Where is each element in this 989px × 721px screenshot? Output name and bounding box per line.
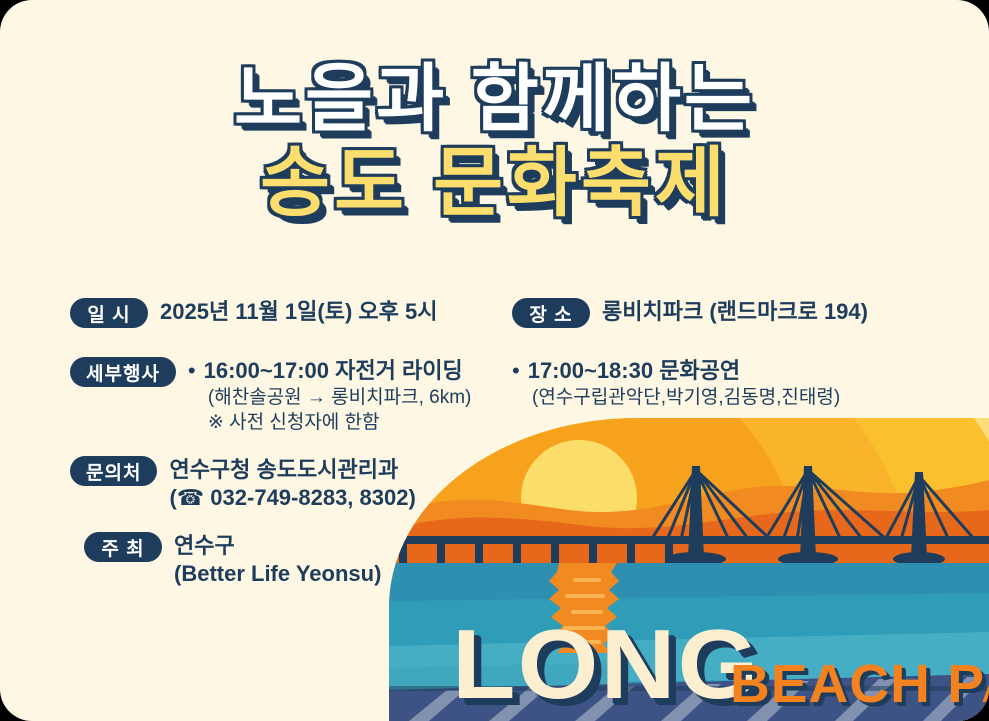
info-row-place: 장 소 롱비치파크 (랜드마크로 194) xyxy=(512,298,868,328)
badge-contact: 문의처 xyxy=(70,456,157,486)
info-row-program: 세부행사 • 16:00~17:00 자전거 라이딩 (해찬솔공원 → 롱비치파… xyxy=(70,357,471,435)
badge-datetime: 일 시 xyxy=(70,298,148,328)
beach-park-logo-text: BEACH PARK xyxy=(730,657,989,711)
value-place: 롱비치파크 (랜드마크로 194) xyxy=(602,298,868,326)
info-row-datetime: 일 시 2025년 11월 1일(토) 오후 5시 xyxy=(70,298,437,328)
info-row-host: 주 최 연수구 (Better Life Yeonsu) xyxy=(84,532,381,588)
program-1-heading: 16:00~17:00 자전거 라이딩 xyxy=(204,357,463,385)
badge-program: 세부행사 xyxy=(70,357,176,387)
poster-title: 노을과 함께하는 송도 문화축제 xyxy=(0,62,989,222)
title-line-1: 노을과 함께하는 xyxy=(0,62,989,136)
info-row-contact: 문의처 연수구청 송도도시관리과 (☎ 032-749-8283, 8302) xyxy=(70,456,416,512)
program-item-2: • 17:00~18:30 문화공연 (연수구립관악단,박기영,김동명,진태령) xyxy=(512,357,840,410)
info-row-program-2: • 17:00~18:30 문화공연 (연수구립관악단,박기영,김동명,진태령) xyxy=(512,357,840,410)
title-line-2: 송도 문화축제 xyxy=(0,146,989,222)
contact-line-2: (☎ 032-749-8283, 8302) xyxy=(169,484,415,512)
host-line-1: 연수구 xyxy=(174,532,381,560)
program-2-sub1: (연수구립관악단,박기영,김동명,진태령) xyxy=(512,385,840,410)
badge-place: 장 소 xyxy=(512,298,590,328)
host-lines: 연수구 (Better Life Yeonsu) xyxy=(174,532,381,588)
value-datetime: 2025년 11월 1일(토) 오후 5시 xyxy=(160,298,437,326)
contact-lines: 연수구청 송도도시관리과 (☎ 032-749-8283, 8302) xyxy=(169,456,415,512)
contact-line-1: 연수구청 송도도시관리과 xyxy=(169,456,415,484)
bullet-icon: • xyxy=(188,357,196,385)
program-1-sub1: (해찬솔공원 → 롱비치파크, 6km) xyxy=(188,385,471,410)
program-1-sub2: ※ 사전 신청자에 한함 xyxy=(188,410,471,435)
long-logo-text: LONG xyxy=(452,615,761,713)
festival-poster: 노을과 함께하는 송도 문화축제 xyxy=(0,0,989,721)
program-2-heading: 17:00~18:30 문화공연 xyxy=(528,357,740,385)
program-item-1: • 16:00~17:00 자전거 라이딩 (해찬솔공원 → 롱비치파크, 6k… xyxy=(188,357,471,435)
bullet-icon: • xyxy=(512,357,520,385)
badge-host: 주 최 xyxy=(84,532,162,562)
host-line-2: (Better Life Yeonsu) xyxy=(174,560,381,588)
